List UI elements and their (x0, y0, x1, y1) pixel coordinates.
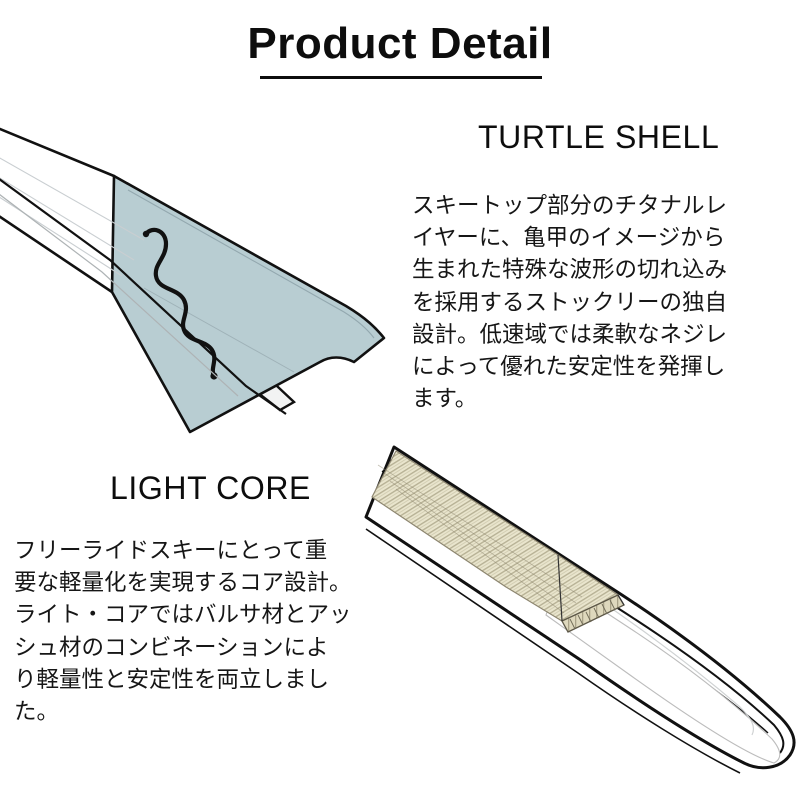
ski-wood-core-cutaway-illustration (386, 425, 800, 800)
section-body-light-core: フリーライドスキーにとって重 要な軽量化を実現するコア設計。 ライト・コアではバ… (14, 535, 380, 728)
ski-tip-titanal-layer-illustration (0, 110, 414, 420)
page-title-underline (260, 76, 542, 79)
product-detail-page: Product Detail TURTLE SHE (0, 0, 800, 800)
titanal-layer-plate (112, 176, 384, 432)
page-title: Product Detail (0, 22, 800, 66)
section-heading-light-core: LIGHT CORE (110, 470, 311, 507)
wave-line-start-cap (143, 231, 149, 237)
section-body-turtle-shell: スキートップ部分のチタナルレ イヤーに、亀甲のイメージから 生まれた特殊な波形の… (412, 190, 778, 415)
section-heading-turtle-shell: TURTLE SHELL (478, 119, 719, 156)
